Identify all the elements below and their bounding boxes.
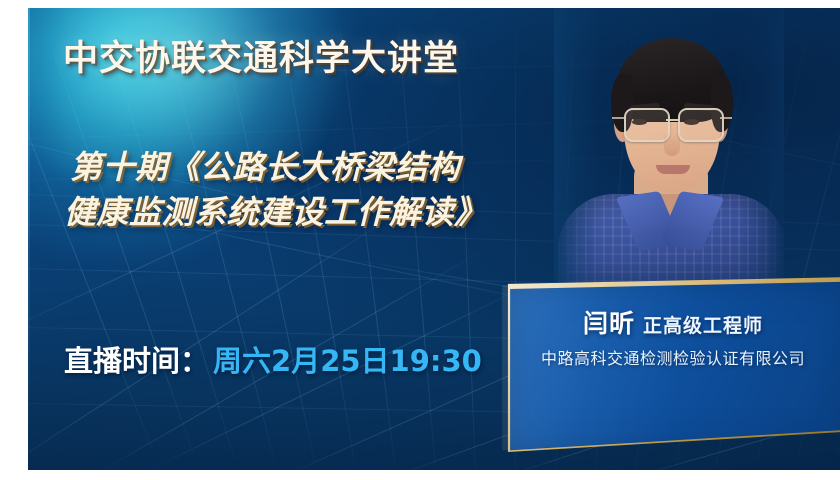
speaker-organization: 中路高科交通检测检验认证有限公司: [500, 345, 840, 369]
webinar-poster: 中交协联交通科学大讲堂 第十期《公路长大桥梁结构 健康监测系统建设工作解读》 直…: [28, 8, 840, 470]
page-title: 中交协联交通科学大讲堂: [63, 30, 459, 81]
speaker-name: 闫昕: [583, 309, 635, 338]
live-time-row: 直播时间：周六2月25日19:30: [64, 338, 482, 380]
left-edge-highlight: [28, 8, 30, 470]
session-subtitle-line1: 第十期《公路长大桥梁结构: [70, 148, 460, 186]
session-subtitle-line2: 健康监测系统建设工作解读》: [64, 190, 590, 235]
live-time-label: 直播时间：: [64, 344, 209, 378]
live-time-value: 周六2月25日19:30: [213, 344, 482, 378]
speaker-name-plate: 闫昕正高级工程师 中路高科交通检测检验认证有限公司: [500, 276, 840, 452]
speaker-name-row: 闫昕正高级工程师: [500, 304, 840, 340]
session-subtitle: 第十期《公路长大桥梁结构 健康监测系统建设工作解读》: [70, 145, 590, 236]
speaker-title: 正高级工程师: [643, 315, 763, 337]
